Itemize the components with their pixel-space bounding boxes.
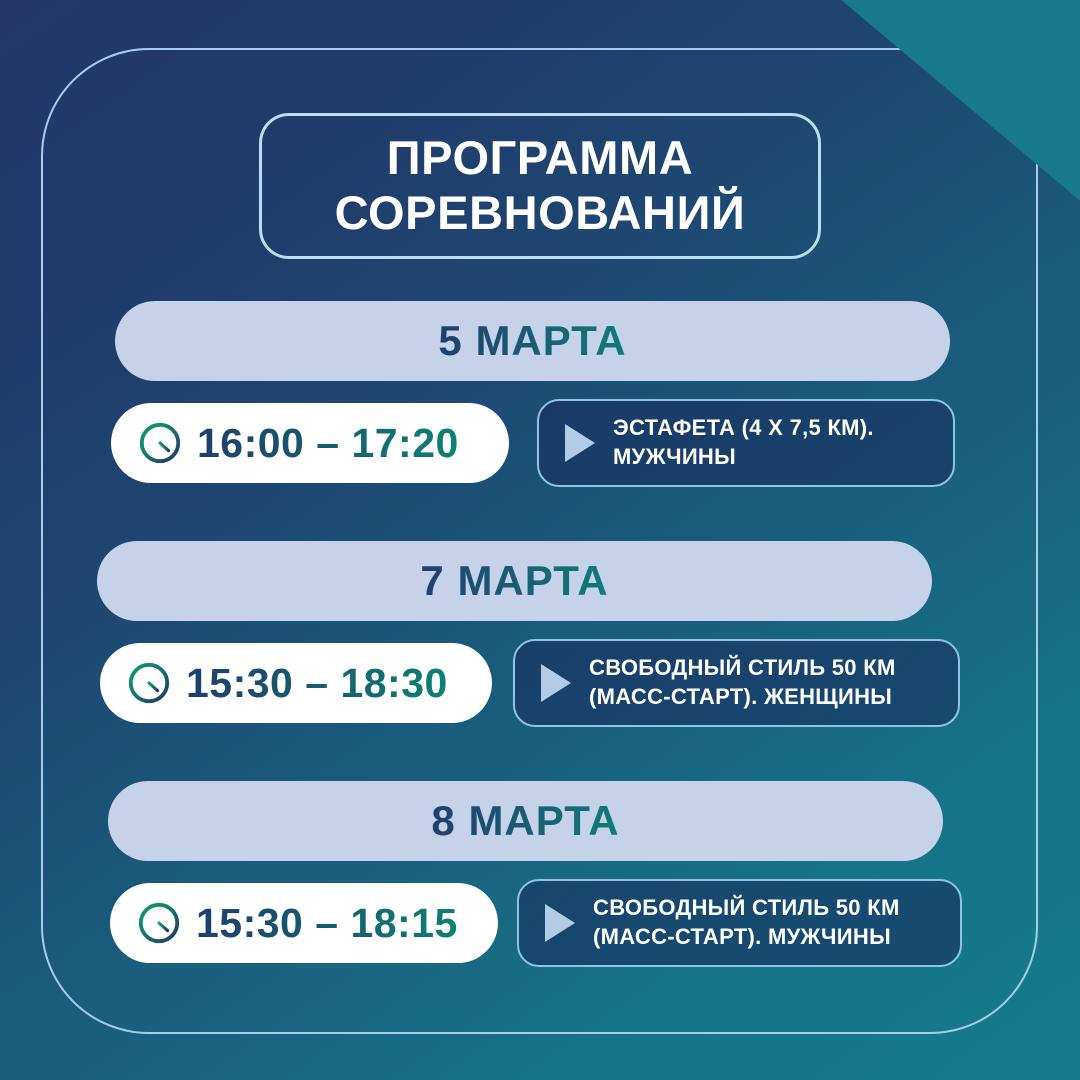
event-line-2: (МАСС-СТАРТ). ЖЕНЩИНЫ xyxy=(589,683,896,712)
event-card: ЭСТАФЕТА (4 X 7,5 КМ). МУЖЧИНЫ xyxy=(537,399,955,487)
event-line-1: СВОБОДНЫЙ СТИЛЬ 50 КМ xyxy=(589,654,896,683)
page-title-text: ПРОГРАММА СОРЕВНОВАНИЙ xyxy=(335,131,746,241)
play-triangle-icon xyxy=(545,904,575,942)
event-description: СВОБОДНЫЙ СТИЛЬ 50 КМ (МАСС-СТАРТ). ЖЕНЩ… xyxy=(589,654,896,711)
time-pill: 15:30 – 18:30 xyxy=(100,643,492,723)
date-label: 8 МАРТА xyxy=(431,797,619,845)
date-header-pill: 5 МАРТА xyxy=(115,301,950,381)
event-description: ЭСТАФЕТА (4 X 7,5 КМ). МУЖЧИНЫ xyxy=(613,414,874,471)
time-range-label: 15:30 – 18:30 xyxy=(186,660,448,707)
competition-program-poster: ПРОГРАММА СОРЕВНОВАНИЙ 5 МАРТА xyxy=(0,0,1080,1080)
time-range-label: 16:00 – 17:20 xyxy=(197,420,459,467)
clock-icon xyxy=(136,900,182,946)
play-triangle-icon xyxy=(565,424,595,462)
date-label: 5 МАРТА xyxy=(438,317,626,365)
frame-corner-overlay xyxy=(834,0,1080,204)
page-title-line-1: ПРОГРАММА xyxy=(335,131,746,186)
date-label: 7 МАРТА xyxy=(420,557,608,605)
date-header-pill: 7 МАРТА xyxy=(97,541,932,621)
time-pill: 15:30 – 18:15 xyxy=(110,883,498,963)
event-line-2: (МАСС-СТАРТ). МУЖЧИНЫ xyxy=(593,923,900,952)
page-title: ПРОГРАММА СОРЕВНОВАНИЙ xyxy=(259,113,821,259)
event-description: СВОБОДНЫЙ СТИЛЬ 50 КМ (МАСС-СТАРТ). МУЖЧ… xyxy=(593,894,900,951)
event-line-2: МУЖЧИНЫ xyxy=(613,443,874,472)
event-card: СВОБОДНЫЙ СТИЛЬ 50 КМ (МАСС-СТАРТ). ЖЕНЩ… xyxy=(513,639,960,727)
event-line-1: СВОБОДНЫЙ СТИЛЬ 50 КМ xyxy=(593,894,900,923)
clock-icon xyxy=(126,660,172,706)
date-header-pill: 8 МАРТА xyxy=(108,781,943,861)
play-triangle-icon xyxy=(541,664,571,702)
page-title-line-2: СОРЕВНОВАНИЙ xyxy=(335,186,746,241)
time-range-label: 15:30 – 18:15 xyxy=(196,900,458,947)
time-pill: 16:00 – 17:20 xyxy=(111,403,509,483)
clock-icon xyxy=(137,420,183,466)
event-line-1: ЭСТАФЕТА (4 X 7,5 КМ). xyxy=(613,414,874,443)
event-card: СВОБОДНЫЙ СТИЛЬ 50 КМ (МАСС-СТАРТ). МУЖЧ… xyxy=(517,879,962,967)
